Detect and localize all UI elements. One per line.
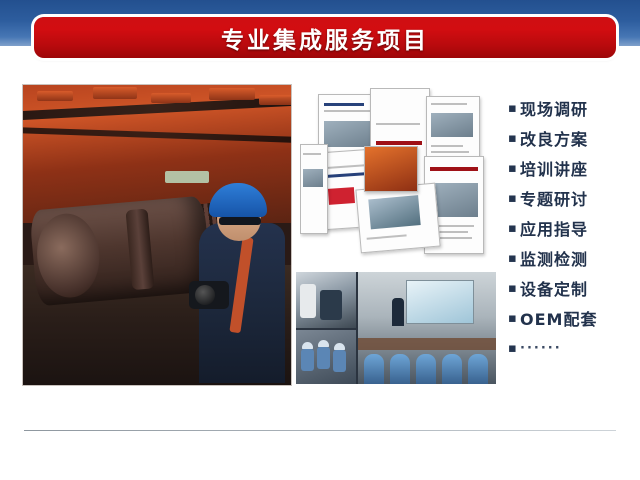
report-title-line bbox=[325, 172, 367, 178]
list-item: ▪ 应用指导 bbox=[508, 213, 636, 243]
bullet-icon: ▪ bbox=[508, 132, 520, 145]
report-photo bbox=[328, 187, 355, 205]
bullet-icon: ▪ bbox=[508, 312, 520, 325]
service-label: ······ bbox=[520, 341, 562, 356]
beam-segment bbox=[93, 87, 137, 99]
list-item: ▪ OEM配套 bbox=[508, 303, 636, 333]
main-photo-mine-inspection bbox=[22, 84, 292, 386]
camera-icon bbox=[189, 281, 229, 309]
service-label: 改良方案 bbox=[520, 126, 588, 150]
list-item: ▪ 设备定制 bbox=[508, 273, 636, 303]
report-title-line bbox=[324, 103, 364, 106]
report-photo bbox=[324, 121, 376, 147]
attendee-figure bbox=[416, 354, 436, 384]
report-title-line bbox=[430, 167, 478, 171]
report-text-line bbox=[303, 153, 321, 155]
report-title-line bbox=[376, 141, 422, 145]
service-label: 培训讲座 bbox=[520, 156, 588, 180]
footer: 顺益 SHUNYI 专业集成 优质行业 Professional Integra… bbox=[0, 433, 640, 480]
service-label: OEM配套 bbox=[520, 306, 597, 330]
indicator-light bbox=[165, 171, 209, 183]
beam-segment bbox=[37, 91, 73, 101]
presenter-figure bbox=[392, 298, 404, 326]
attendee-figure bbox=[442, 354, 462, 384]
attendee-figure bbox=[364, 354, 384, 384]
bullet-icon: ▪ bbox=[508, 192, 520, 205]
report-photo bbox=[431, 113, 473, 137]
list-item: ▪ 培训讲座 bbox=[508, 153, 636, 183]
list-item: ▪ 改良方案 bbox=[508, 123, 636, 153]
report-text-line bbox=[431, 145, 463, 147]
attendee-figure bbox=[468, 354, 488, 384]
bullet-icon: ▪ bbox=[508, 102, 520, 115]
worker-figure bbox=[301, 349, 314, 371]
laboratory-photo bbox=[296, 272, 356, 328]
service-label: 应用指导 bbox=[520, 216, 588, 240]
title-banner: 专业集成服务项目 bbox=[34, 17, 616, 58]
hard-hat-icon bbox=[334, 343, 345, 350]
cutting-drum-gearbox bbox=[29, 196, 212, 307]
lab-technician bbox=[300, 284, 316, 318]
service-label: 监测检测 bbox=[520, 246, 588, 270]
report-text-line bbox=[376, 123, 420, 125]
classroom-desk bbox=[358, 338, 496, 350]
worker-figure bbox=[317, 347, 330, 369]
service-label: 现场调研 bbox=[520, 96, 588, 120]
footer-divider bbox=[24, 430, 616, 431]
list-item: ▪ ······ bbox=[508, 333, 636, 363]
safety-glasses-icon bbox=[219, 217, 261, 225]
report-photo-insert bbox=[364, 146, 418, 192]
bullet-icon: ▪ bbox=[508, 222, 520, 235]
list-item: ▪ 现场调研 bbox=[508, 93, 636, 123]
bullet-icon: ▪ bbox=[508, 282, 520, 295]
report-text-line bbox=[431, 103, 467, 105]
hard-hat-icon bbox=[318, 340, 329, 347]
report-cover bbox=[300, 144, 328, 234]
classroom-training-photo bbox=[358, 272, 496, 384]
report-covers-collage bbox=[300, 88, 496, 268]
report-photo bbox=[303, 169, 323, 187]
list-item: ▪ 监测检测 bbox=[508, 243, 636, 273]
bullet-icon: ▪ bbox=[508, 342, 520, 355]
bullet-icon: ▪ bbox=[508, 252, 520, 265]
field-workers-photo bbox=[296, 330, 356, 384]
list-item: ▪ 专题研讨 bbox=[508, 183, 636, 213]
training-photo-collage bbox=[296, 272, 496, 384]
report-photo bbox=[368, 195, 420, 229]
service-label: 专题研讨 bbox=[520, 186, 588, 210]
bullet-icon: ▪ bbox=[508, 162, 520, 175]
report-text-line bbox=[324, 110, 370, 112]
page-title: 专业集成服务项目 bbox=[221, 21, 429, 55]
hard-hat-icon bbox=[302, 342, 313, 349]
report-cover bbox=[355, 183, 440, 254]
report-text-line bbox=[367, 234, 407, 239]
attendee-figure bbox=[390, 354, 410, 384]
beam-segment bbox=[259, 95, 292, 105]
service-label: 设备定制 bbox=[520, 276, 588, 300]
microscope-icon bbox=[320, 290, 342, 320]
projector-screen bbox=[406, 280, 474, 324]
beam-segment bbox=[209, 88, 255, 100]
slide-canvas: 专业集成服务项目 bbox=[0, 0, 640, 480]
report-text-line bbox=[431, 151, 469, 153]
beam-segment bbox=[151, 93, 191, 103]
service-list: ▪ 现场调研 ▪ 改良方案 ▪ 培训讲座 ▪ 专题研讨 ▪ 应用指导 ▪ 监测检… bbox=[508, 93, 636, 363]
worker-figure bbox=[333, 350, 346, 372]
